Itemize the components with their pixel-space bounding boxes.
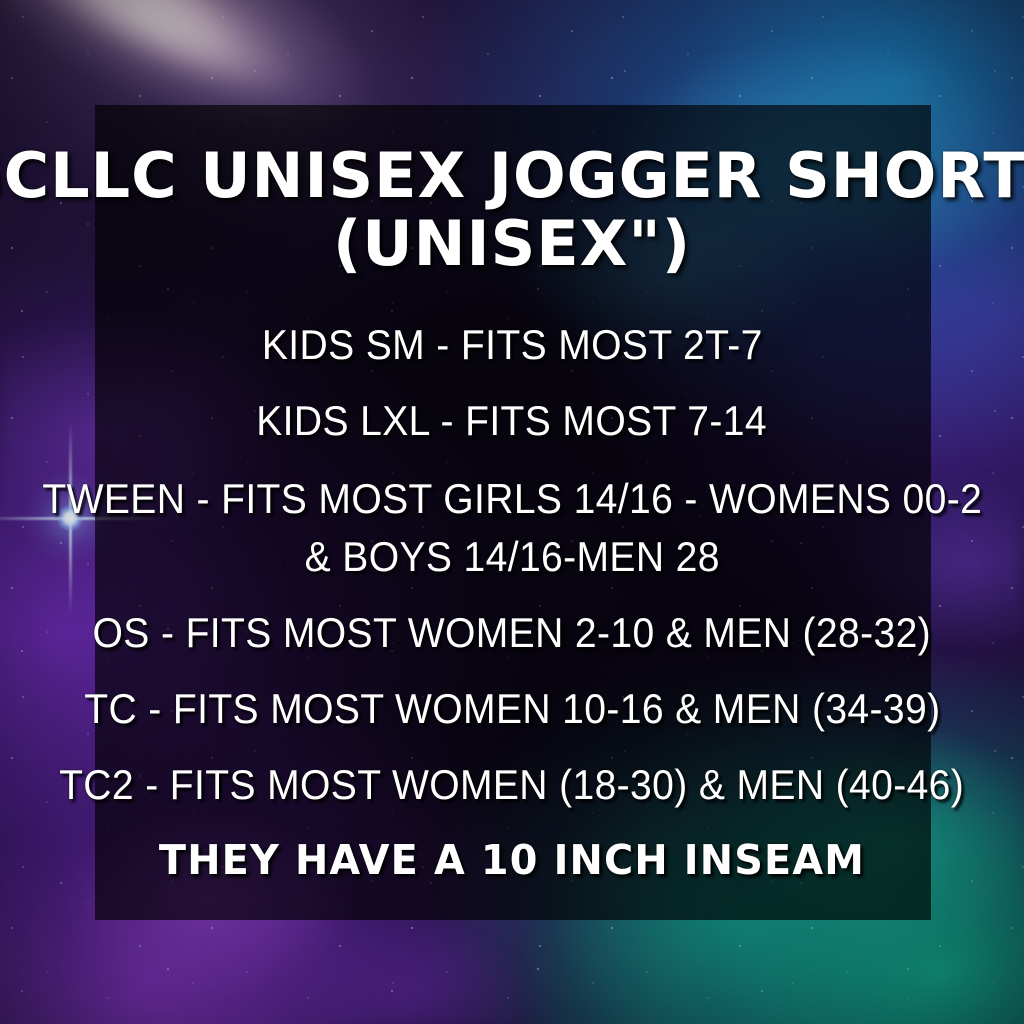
size-line-kids-lxl: KIDS LXL - FITS MOST 7-14	[257, 395, 768, 447]
size-chart-content: GCLLC UNISEX JOGGER SHORTS (UNISEX") KID…	[0, 0, 1024, 1024]
size-line-os: OS - FITS MOST WOMEN 2-10 & MEN (28-32)	[93, 607, 932, 659]
inseam-note: THEY HAVE A 10 INCH INSEAM	[159, 835, 865, 885]
size-line-tc2: TC2 - FITS MOST WOMEN (18-30) & MEN (40-…	[59, 759, 964, 811]
page-title: GCLLC UNISEX JOGGER SHORTS	[0, 139, 1024, 213]
product-size-chart-image: GCLLC UNISEX JOGGER SHORTS (UNISEX") KID…	[0, 0, 1024, 1024]
size-line-tc: TC - FITS MOST WOMEN 10-16 & MEN (34-39)	[84, 683, 940, 735]
size-line-kids-sm: KIDS SM - FITS MOST 2T-7	[262, 319, 763, 371]
size-line-tween-part2: & BOYS 14/16-MEN 28	[304, 531, 719, 583]
page-subtitle: (UNISEX")	[333, 207, 691, 281]
size-line-tween-part1: TWEEN - FITS MOST GIRLS 14/16 - WOMENS 0…	[42, 473, 982, 525]
